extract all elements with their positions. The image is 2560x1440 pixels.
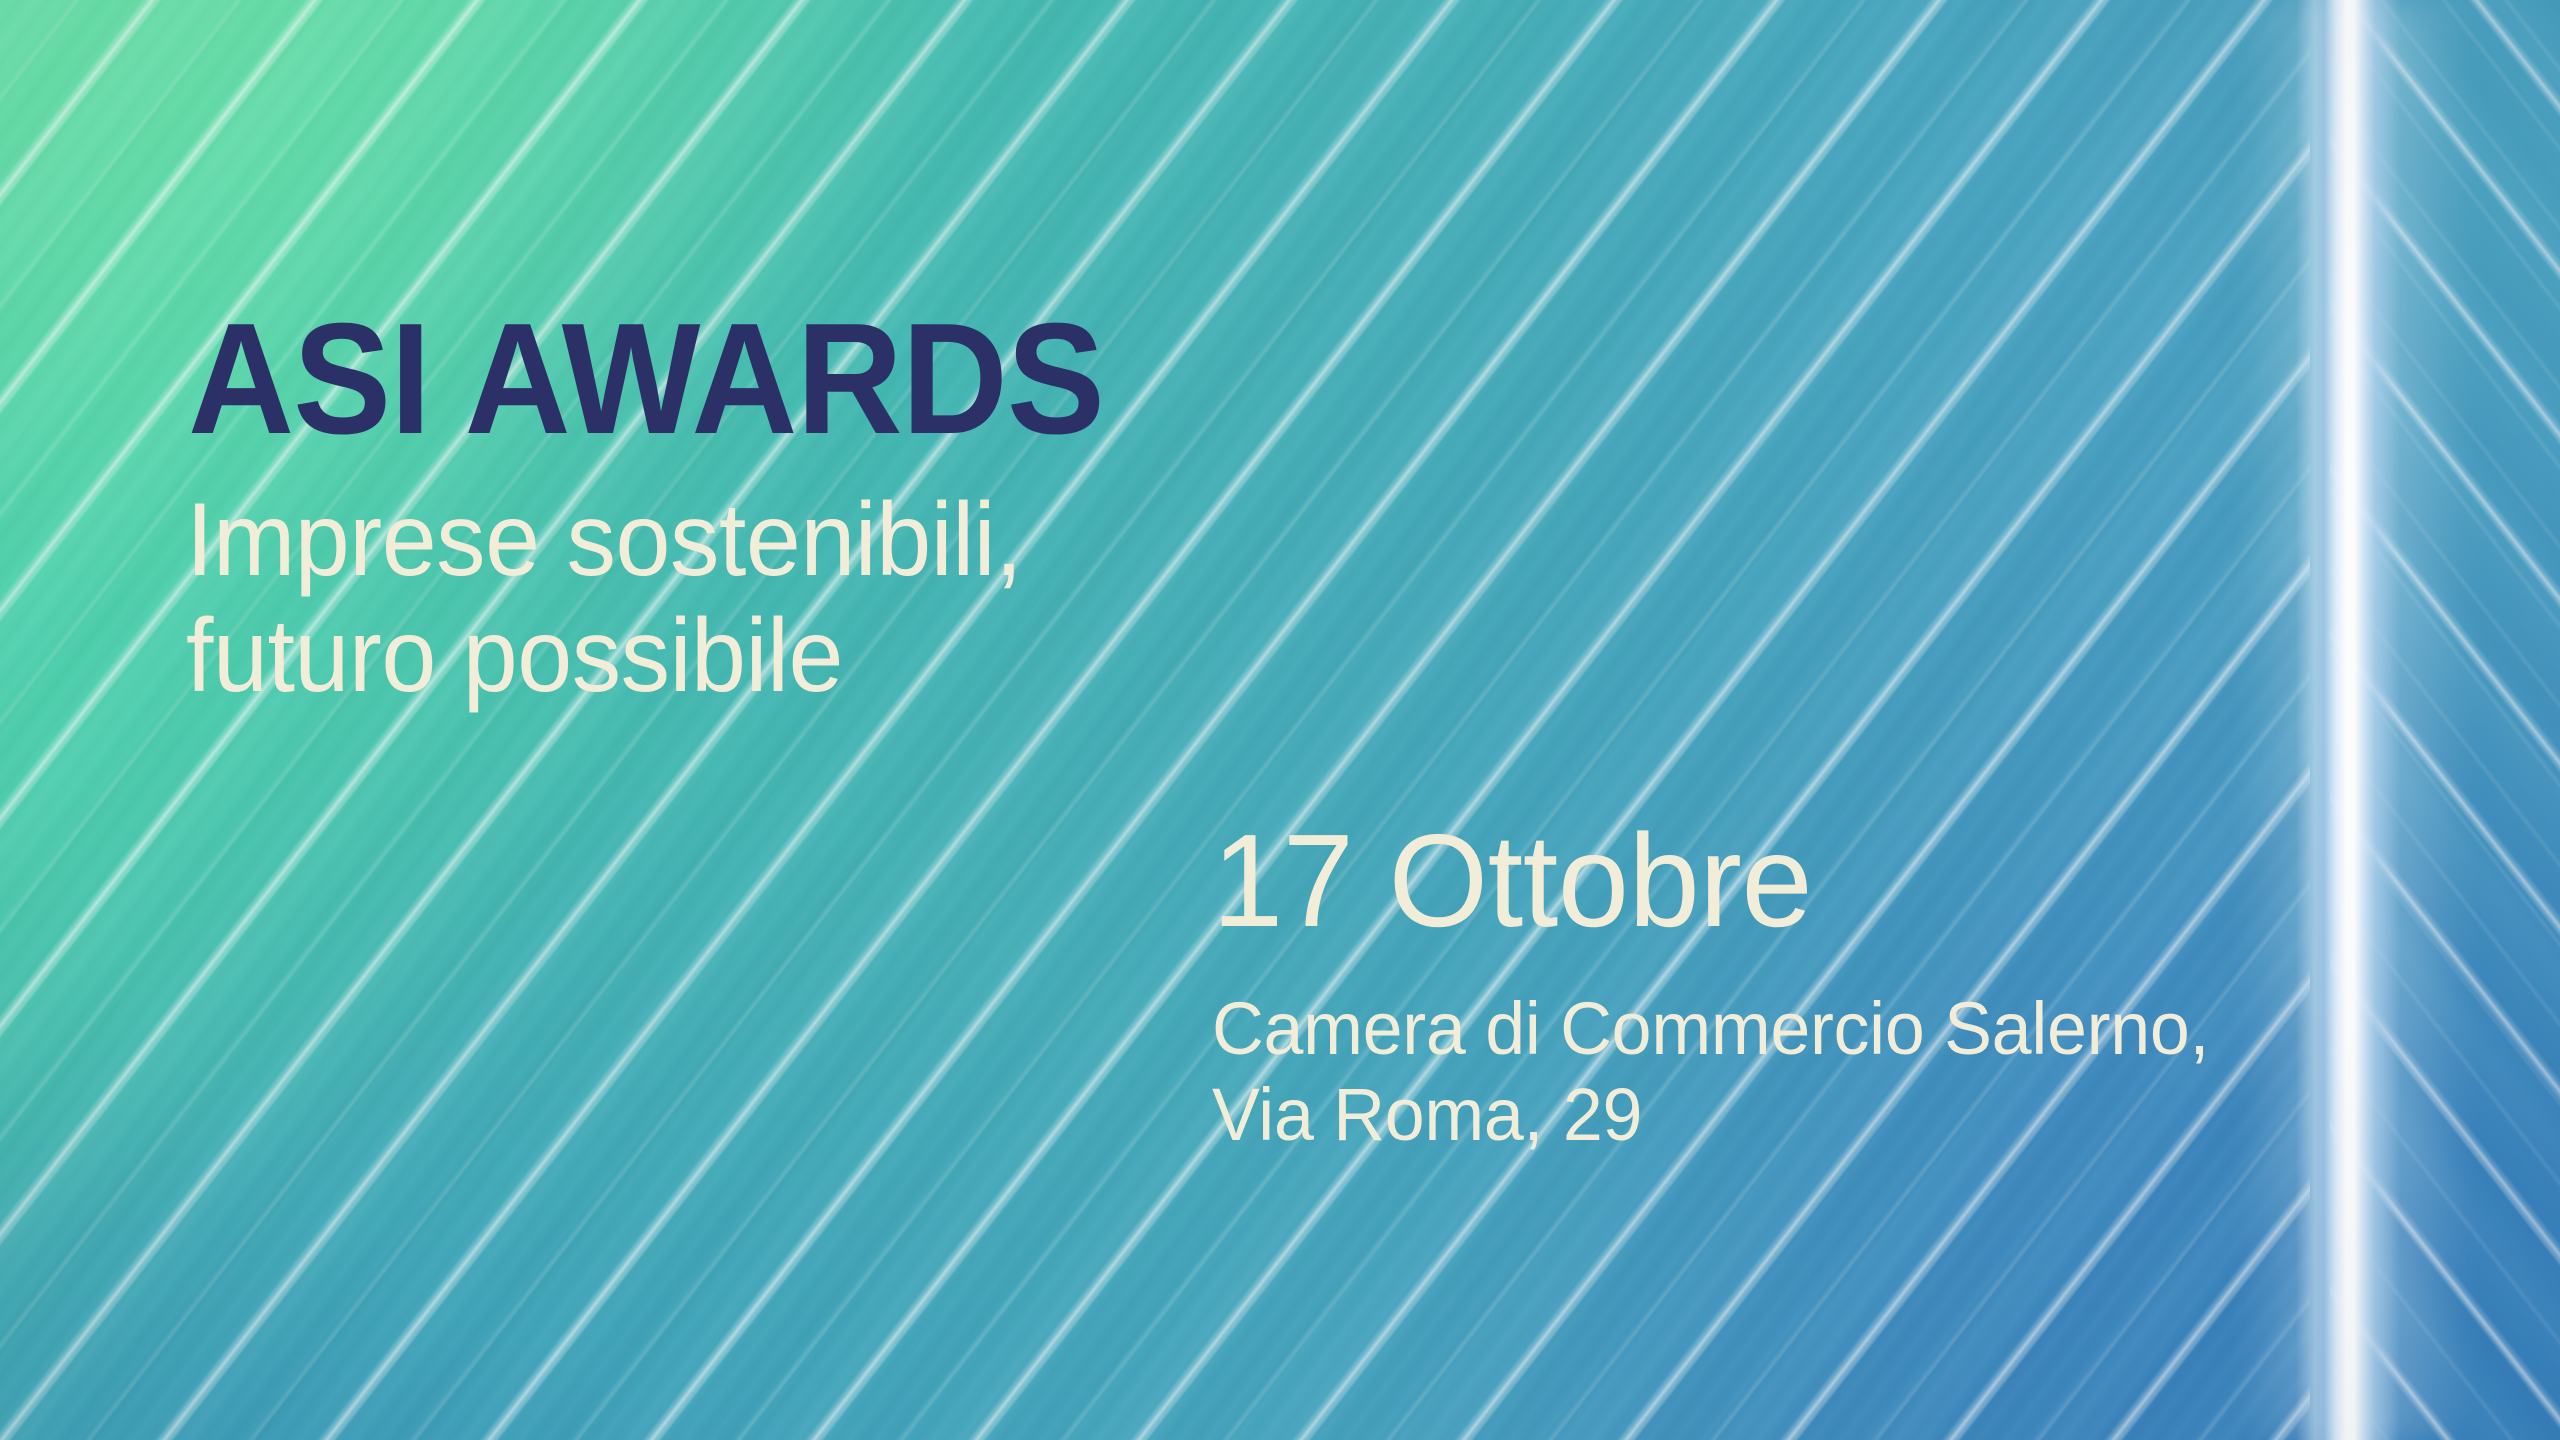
- event-poster: ASI AWARDS Imprese sostenibili, futuro p…: [0, 0, 2560, 1440]
- event-venue: Camera di Commercio Salerno, Via Roma, 2…: [1212, 986, 2209, 1158]
- poster-content: ASI AWARDS Imprese sostenibili, futuro p…: [0, 0, 2560, 1440]
- poster-headline: ASI AWARDS: [188, 300, 1104, 458]
- poster-tagline: Imprese sostenibili, futuro possibile: [186, 482, 1022, 715]
- event-date: 17 Ottobre: [1212, 812, 1812, 951]
